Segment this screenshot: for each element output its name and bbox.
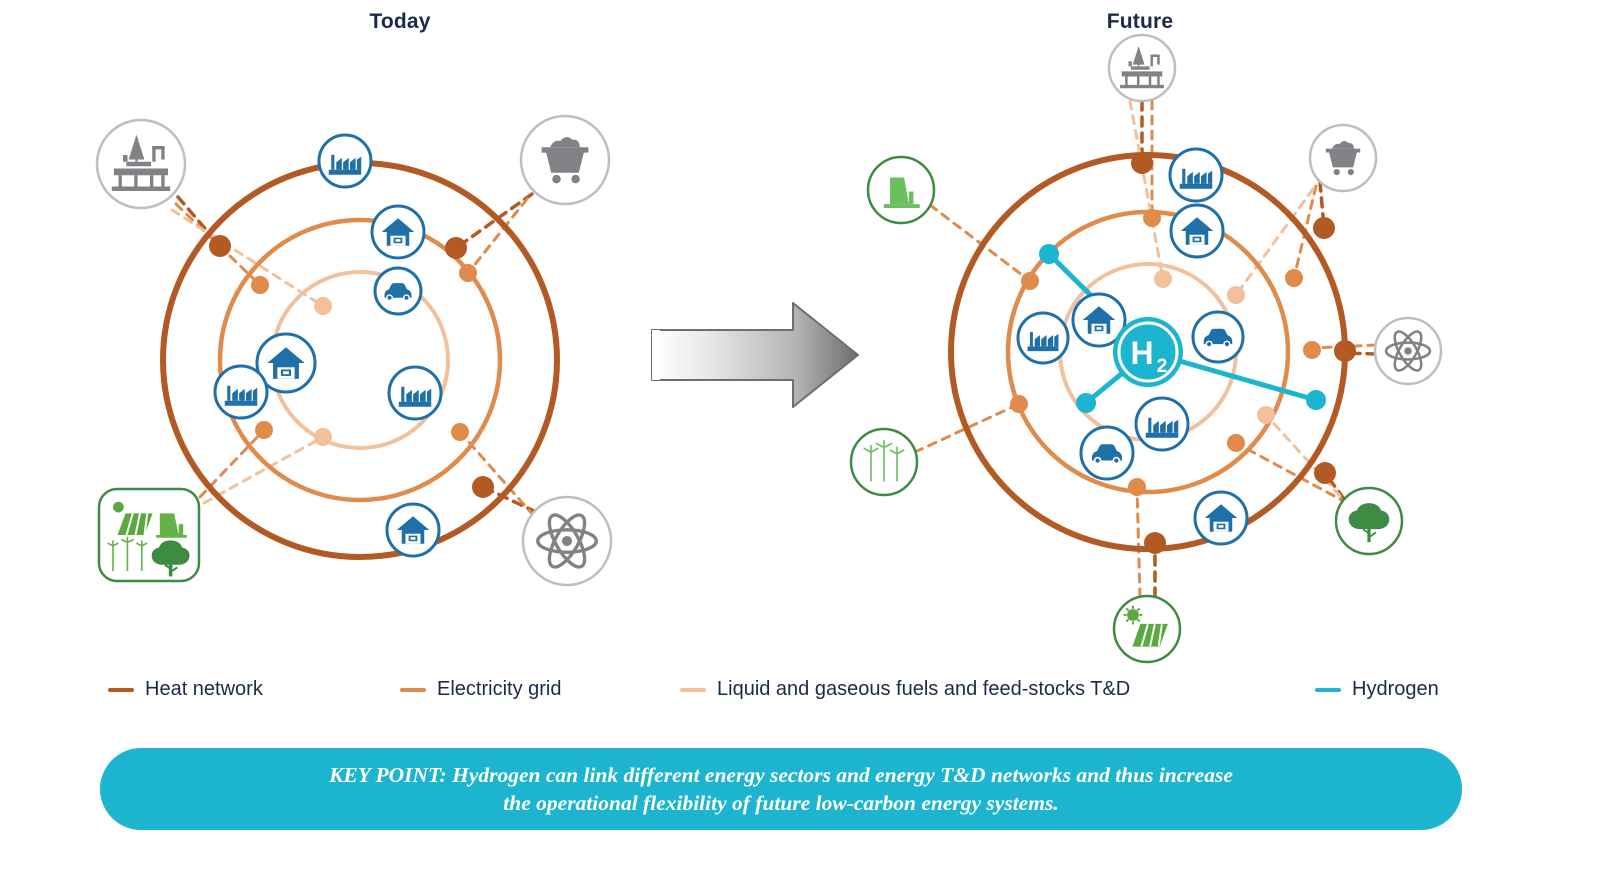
today-source-nuclear[interactable]	[523, 497, 611, 585]
future-sector-transport-left[interactable]	[1081, 427, 1133, 479]
future-source-wind[interactable]	[851, 429, 917, 495]
h2-node-right	[1306, 390, 1326, 410]
legend-label-fuels-td: Liquid and gaseous fuels and feed-stocks…	[717, 678, 1130, 701]
legend-swatch-hydrogen	[1315, 688, 1341, 692]
future-source-coal[interactable]	[1310, 125, 1376, 191]
future-panel: H 2	[851, 35, 1441, 662]
legend-label-electricity-grid: Electricity grid	[437, 678, 561, 701]
future-sector-industry-left[interactable]	[1018, 313, 1068, 363]
future-source-solar[interactable]	[1114, 596, 1180, 662]
legend-swatch-electricity-grid	[400, 688, 426, 692]
today-source-coal[interactable]	[521, 116, 609, 204]
legend-item-hydrogen[interactable]: Hydrogen	[1315, 678, 1439, 701]
today-source-renewables[interactable]	[99, 489, 199, 581]
legend-label-heat-network: Heat network	[145, 678, 263, 701]
future-source-oil-rig[interactable]	[1109, 35, 1175, 101]
legend-item-heat-network[interactable]: Heat network	[108, 678, 263, 701]
future-sector-industry-top[interactable]	[1170, 149, 1222, 201]
transition-arrow	[652, 303, 858, 407]
future-sector-home-bottom[interactable]	[1195, 492, 1247, 544]
today-panel	[97, 116, 611, 585]
future-source-nuclear[interactable]	[1375, 318, 1441, 384]
future-source-biomass[interactable]	[1336, 488, 1402, 554]
legend-label-hydrogen: Hydrogen	[1352, 678, 1439, 701]
today-sector-industry-top[interactable]	[319, 135, 371, 187]
h2-node-upper-left	[1039, 244, 1059, 264]
today-sector-transport-mid[interactable]	[375, 268, 421, 314]
today-sector-industry-left[interactable]	[215, 366, 267, 418]
key-point-text: KEY POINT: Hydrogen can link different e…	[141, 761, 1421, 818]
hydrogen-hub-subscript: 2	[1157, 356, 1168, 377]
legend-swatch-heat-network	[108, 688, 134, 692]
legend-swatch-fuels-td	[680, 688, 706, 692]
future-sector-home-upper[interactable]	[1171, 205, 1223, 257]
legend-item-fuels-td[interactable]: Liquid and gaseous fuels and feed-stocks…	[680, 678, 1130, 701]
today-sector-home-bottom[interactable]	[387, 504, 439, 556]
key-point-line-1: KEY POINT: Hydrogen can link different e…	[329, 763, 1233, 787]
future-sector-transport-right[interactable]	[1193, 312, 1243, 362]
h2-node-lower-left	[1076, 393, 1096, 413]
diagram-canvas: Today Future	[0, 0, 1618, 887]
hydrogen-hub[interactable]: H 2	[1113, 317, 1183, 387]
legend-item-electricity-grid[interactable]: Electricity grid	[400, 678, 561, 701]
key-point-line-2: the operational flexibility of future lo…	[503, 791, 1058, 815]
future-sector-industry-inner[interactable]	[1136, 398, 1188, 450]
today-sector-home-upper[interactable]	[372, 206, 424, 258]
legend: Heat network Electricity grid Liquid and…	[0, 668, 1618, 708]
future-source-bioenergy[interactable]	[868, 157, 934, 223]
today-sector-industry-right[interactable]	[389, 367, 441, 419]
key-point-banner: KEY POINT: Hydrogen can link different e…	[100, 748, 1462, 830]
today-source-oil-rig[interactable]	[97, 120, 185, 208]
hydrogen-hub-label: H	[1130, 335, 1153, 371]
